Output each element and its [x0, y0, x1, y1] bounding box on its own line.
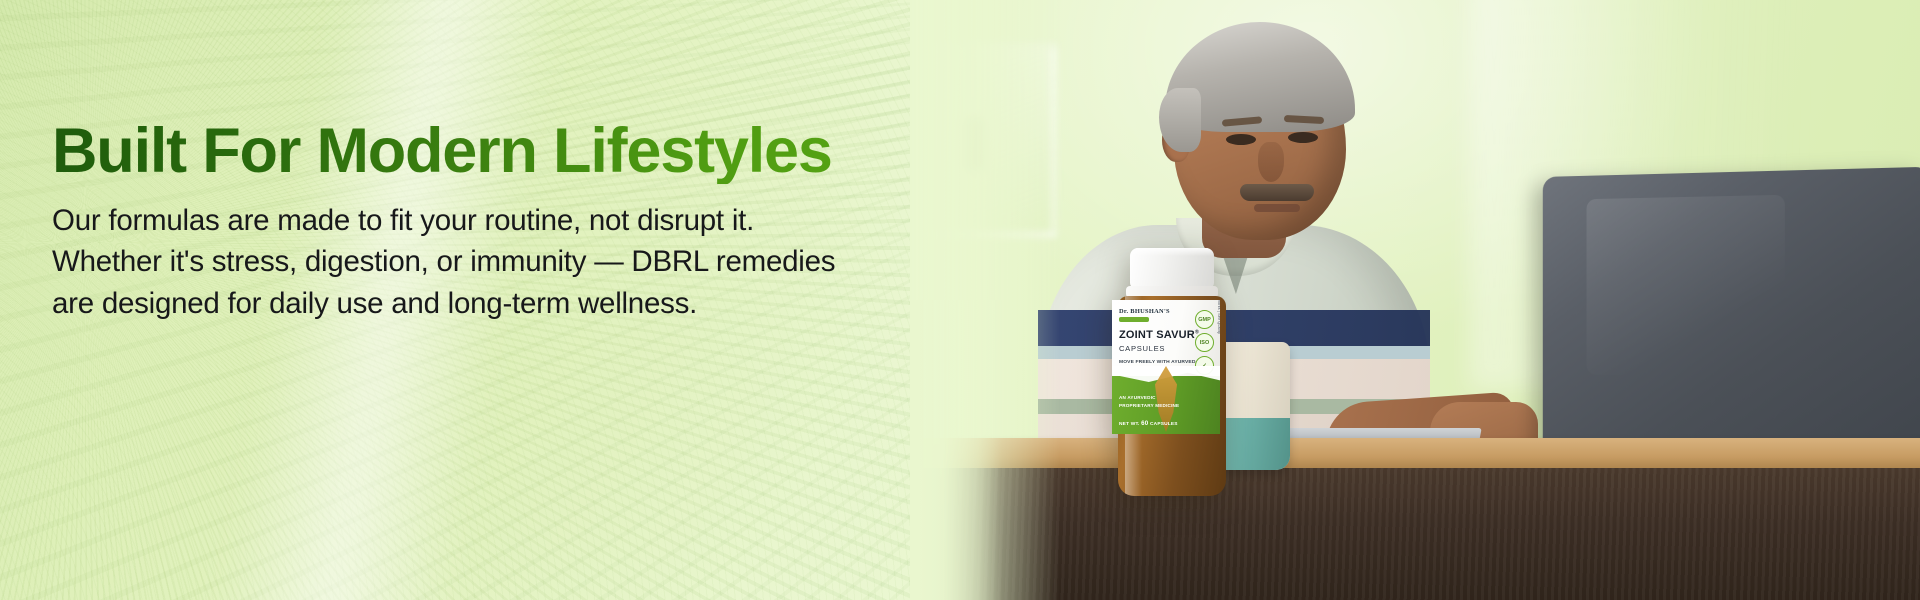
- label-category-line-2: PROPRIETARY MEDICINE: [1119, 403, 1179, 408]
- label-capsule-count: NET WT. 60 CAPSULES: [1119, 420, 1178, 427]
- bottle-label: Dr. BHUSHAN'S ZOINT SAVUR® CAPSULES MOVE…: [1112, 300, 1220, 434]
- iso-badge-icon: ISO: [1195, 333, 1214, 352]
- gmp-badge-icon: GMP: [1195, 310, 1214, 329]
- body-line-1: Our formulas are made to fit your routin…: [52, 200, 982, 241]
- promo-banner: Dr. BHUSHAN'S ZOINT SAVUR® CAPSULES MOVE…: [0, 0, 1920, 600]
- mustache: [1240, 184, 1314, 201]
- product-name-text: ZOINT SAVUR: [1119, 329, 1195, 341]
- lifestyle-photo: Dr. BHUSHAN'S ZOINT SAVUR® CAPSULES MOVE…: [910, 0, 1920, 600]
- count-prefix: NET WT.: [1119, 422, 1140, 427]
- mouth: [1254, 204, 1300, 212]
- label-product-form: CAPSULES: [1119, 344, 1165, 353]
- label-category-line-1: AN AYURVEDIC: [1119, 395, 1156, 400]
- body-line-3: are designed for daily use and long-term…: [52, 283, 982, 324]
- hair-sideburn: [1159, 88, 1201, 152]
- label-product-name: ZOINT SAVUR®: [1119, 329, 1199, 341]
- label-side-text: Balance Mark Works | Self Quality: [1217, 300, 1220, 334]
- shirt-stripe-navy: [1038, 310, 1430, 346]
- body-line-2: Whether it's stress, digestion, or immun…: [52, 241, 982, 282]
- label-product-claim: MOVE FREELY WITH AYURVEDA: [1119, 360, 1199, 365]
- product-bottle[interactable]: Dr. BHUSHAN'S ZOINT SAVUR® CAPSULES MOVE…: [1112, 248, 1232, 496]
- banner-headline: Built For Modern Lifestyles: [52, 118, 982, 184]
- desk-front-panel: [910, 468, 1920, 600]
- banner-body-text: Our formulas are made to fit your routin…: [52, 200, 982, 324]
- count-number: 60: [1141, 420, 1148, 427]
- banner-copy: Built For Modern Lifestyles Our formulas…: [52, 118, 982, 324]
- label-brand-underline: [1119, 317, 1149, 322]
- desk-left-fade: [910, 300, 1002, 600]
- desk-surface: [910, 438, 1920, 472]
- eye-left: [1226, 134, 1256, 145]
- nose: [1258, 142, 1284, 182]
- count-unit: CAPSULES: [1150, 422, 1178, 427]
- bottle-cap: [1130, 248, 1214, 288]
- laptop-screen-lid: [1543, 167, 1920, 478]
- eye-right: [1288, 132, 1318, 143]
- label-brand-name: Dr. BHUSHAN'S: [1119, 308, 1170, 315]
